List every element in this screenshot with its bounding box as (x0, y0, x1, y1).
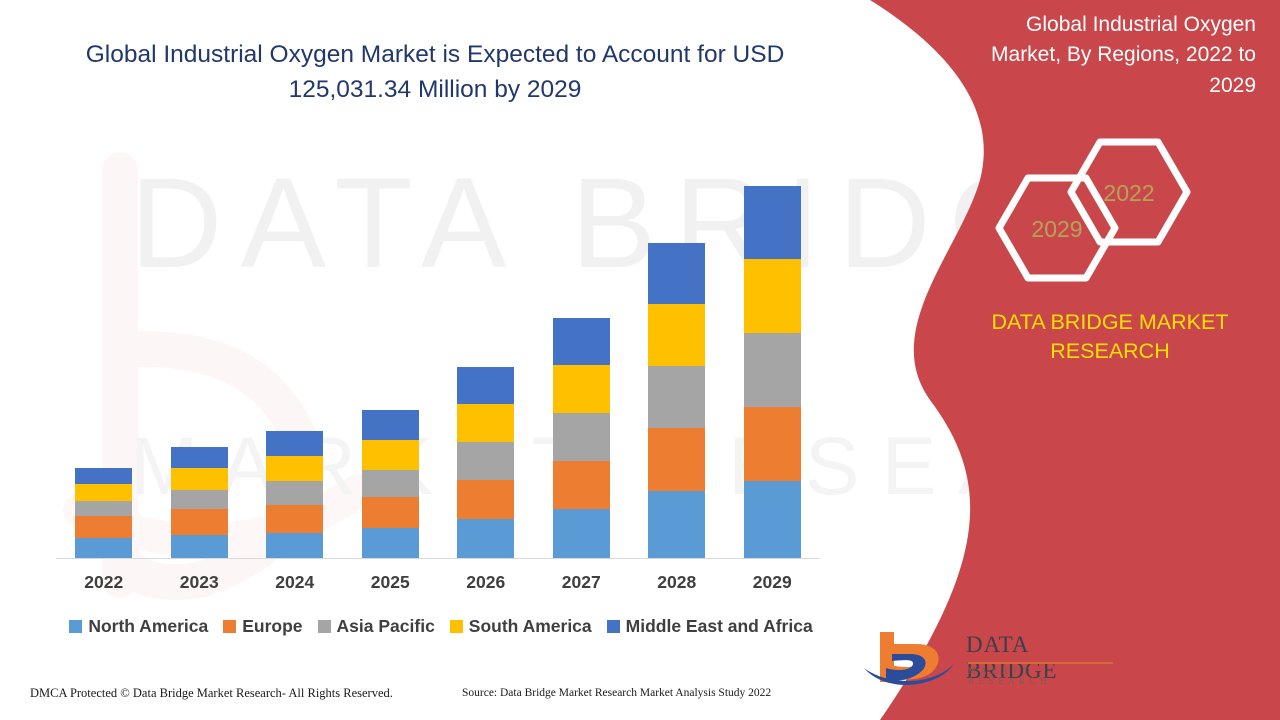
legend-item[interactable]: Asia Pacific (318, 616, 435, 637)
stacked-bar[interactable] (457, 367, 514, 559)
bar-segment[interactable] (744, 186, 801, 259)
bar-segment[interactable] (744, 481, 801, 559)
bar-segment[interactable] (171, 490, 228, 509)
bar-segment[interactable] (457, 367, 514, 404)
stacked-bar[interactable] (266, 431, 323, 559)
bar-segment[interactable] (744, 259, 801, 333)
x-axis-tick-2025: 2025 (343, 572, 439, 593)
hexagon-2029-label: 2029 (1031, 216, 1082, 242)
hexagon-2029-badge: 2029 (999, 178, 1115, 278)
bar-segment[interactable] (362, 470, 419, 497)
bar-group-2022 (56, 150, 152, 559)
bar-group-2028 (629, 150, 725, 559)
bar-segment[interactable] (75, 516, 132, 538)
legend-item[interactable]: South America (450, 616, 592, 637)
legend-swatch-icon (223, 620, 236, 633)
bar-segment[interactable] (362, 528, 419, 559)
bar-series-container (56, 150, 820, 559)
panel-heading: Global Industrial Oxygen Market, By Regi… (966, 10, 1256, 101)
stacked-bar[interactable] (171, 447, 228, 559)
legend-item[interactable]: Europe (223, 616, 302, 637)
legend-label: North America (88, 616, 208, 637)
stacked-bar[interactable] (553, 318, 610, 559)
bar-segment[interactable] (648, 366, 705, 428)
legend-swatch-icon (607, 620, 620, 633)
right-info-panel: Global Industrial Oxygen Market, By Regi… (840, 0, 1280, 720)
bar-segment[interactable] (457, 480, 514, 519)
bar-segment[interactable] (266, 431, 323, 456)
bar-segment[interactable] (362, 410, 419, 440)
x-axis-tick-2023: 2023 (152, 572, 248, 593)
bar-group-2027 (534, 150, 630, 559)
legend-label: Europe (242, 616, 302, 637)
hexagon-2022-label: 2022 (1103, 180, 1154, 206)
bar-segment[interactable] (648, 428, 705, 491)
x-axis-tick-2022: 2022 (56, 572, 152, 593)
bar-segment[interactable] (553, 318, 610, 365)
logo-divider (968, 662, 1113, 664)
footer-source-note: Source: Data Bridge Market Research Mark… (462, 687, 771, 699)
legend-label: Middle East and Africa (626, 616, 813, 637)
bar-group-2023 (152, 150, 248, 559)
bar-group-2026 (438, 150, 534, 559)
bar-segment[interactable] (457, 519, 514, 559)
bar-segment[interactable] (362, 440, 419, 470)
bar-segment[interactable] (266, 505, 323, 533)
bar-segment[interactable] (75, 484, 132, 501)
legend-label: South America (469, 616, 592, 637)
bar-segment[interactable] (648, 304, 705, 366)
x-axis-tick-2029: 2029 (725, 572, 821, 593)
bar-segment[interactable] (171, 447, 228, 468)
x-axis-labels: 20222023202420252026202720282029 (56, 572, 820, 593)
hexagon-2022-badge: 2022 (1071, 142, 1187, 242)
bar-segment[interactable] (75, 468, 132, 484)
legend-swatch-icon (318, 620, 331, 633)
bar-segment[interactable] (553, 509, 610, 559)
stacked-bar[interactable] (362, 410, 419, 559)
chart-panel: Global Industrial Oxygen Market is Expec… (0, 0, 880, 720)
hexagon-badges: 2022 2029 (980, 130, 1210, 290)
chart-title: Global Industrial Oxygen Market is Expec… (55, 38, 815, 108)
data-bridge-logo: DATA BRIDGE MARKET RESEARCH (858, 624, 1118, 696)
bar-segment[interactable] (457, 442, 514, 480)
legend-label: Asia Pacific (337, 616, 435, 637)
bar-group-2029 (725, 150, 821, 559)
bar-segment[interactable] (553, 365, 610, 413)
footer-dmca-notice: DMCA Protected © Data Bridge Market Rese… (30, 686, 393, 701)
x-axis-line (56, 558, 820, 559)
bar-segment[interactable] (457, 404, 514, 442)
plot-area (56, 150, 820, 559)
x-axis-tick-2028: 2028 (629, 572, 725, 593)
logo-subtitle: MARKET RESEARCH (968, 666, 1118, 686)
legend-swatch-icon (69, 620, 82, 633)
bar-group-2024 (247, 150, 343, 559)
bar-segment[interactable] (171, 509, 228, 535)
bar-segment[interactable] (744, 407, 801, 481)
stacked-bar[interactable] (744, 186, 801, 559)
legend-item[interactable]: Middle East and Africa (607, 616, 813, 637)
legend-item[interactable]: North America (69, 616, 208, 637)
chart-legend: North AmericaEuropeAsia PacificSouth Ame… (56, 616, 826, 637)
stacked-bar[interactable] (75, 468, 132, 559)
bar-segment[interactable] (362, 497, 419, 528)
bar-segment[interactable] (75, 501, 132, 516)
bar-segment[interactable] (648, 491, 705, 559)
legend-swatch-icon (450, 620, 463, 633)
bar-segment[interactable] (553, 413, 610, 461)
stacked-bar[interactable] (648, 243, 705, 559)
bar-segment[interactable] (648, 243, 705, 304)
logo-mark-icon (858, 624, 958, 694)
bar-segment[interactable] (744, 333, 801, 407)
x-axis-tick-2027: 2027 (534, 572, 630, 593)
bar-segment[interactable] (171, 535, 228, 559)
bar-segment[interactable] (266, 481, 323, 505)
brand-name: DATA BRIDGE MARKET RESEARCH (960, 308, 1260, 366)
x-axis-tick-2024: 2024 (247, 572, 343, 593)
bar-segment[interactable] (75, 538, 132, 559)
x-axis-tick-2026: 2026 (438, 572, 534, 593)
bar-segment[interactable] (266, 456, 323, 481)
bar-segment[interactable] (553, 461, 610, 509)
bar-segment[interactable] (171, 468, 228, 490)
bar-group-2025 (343, 150, 439, 559)
bar-segment[interactable] (266, 533, 323, 559)
